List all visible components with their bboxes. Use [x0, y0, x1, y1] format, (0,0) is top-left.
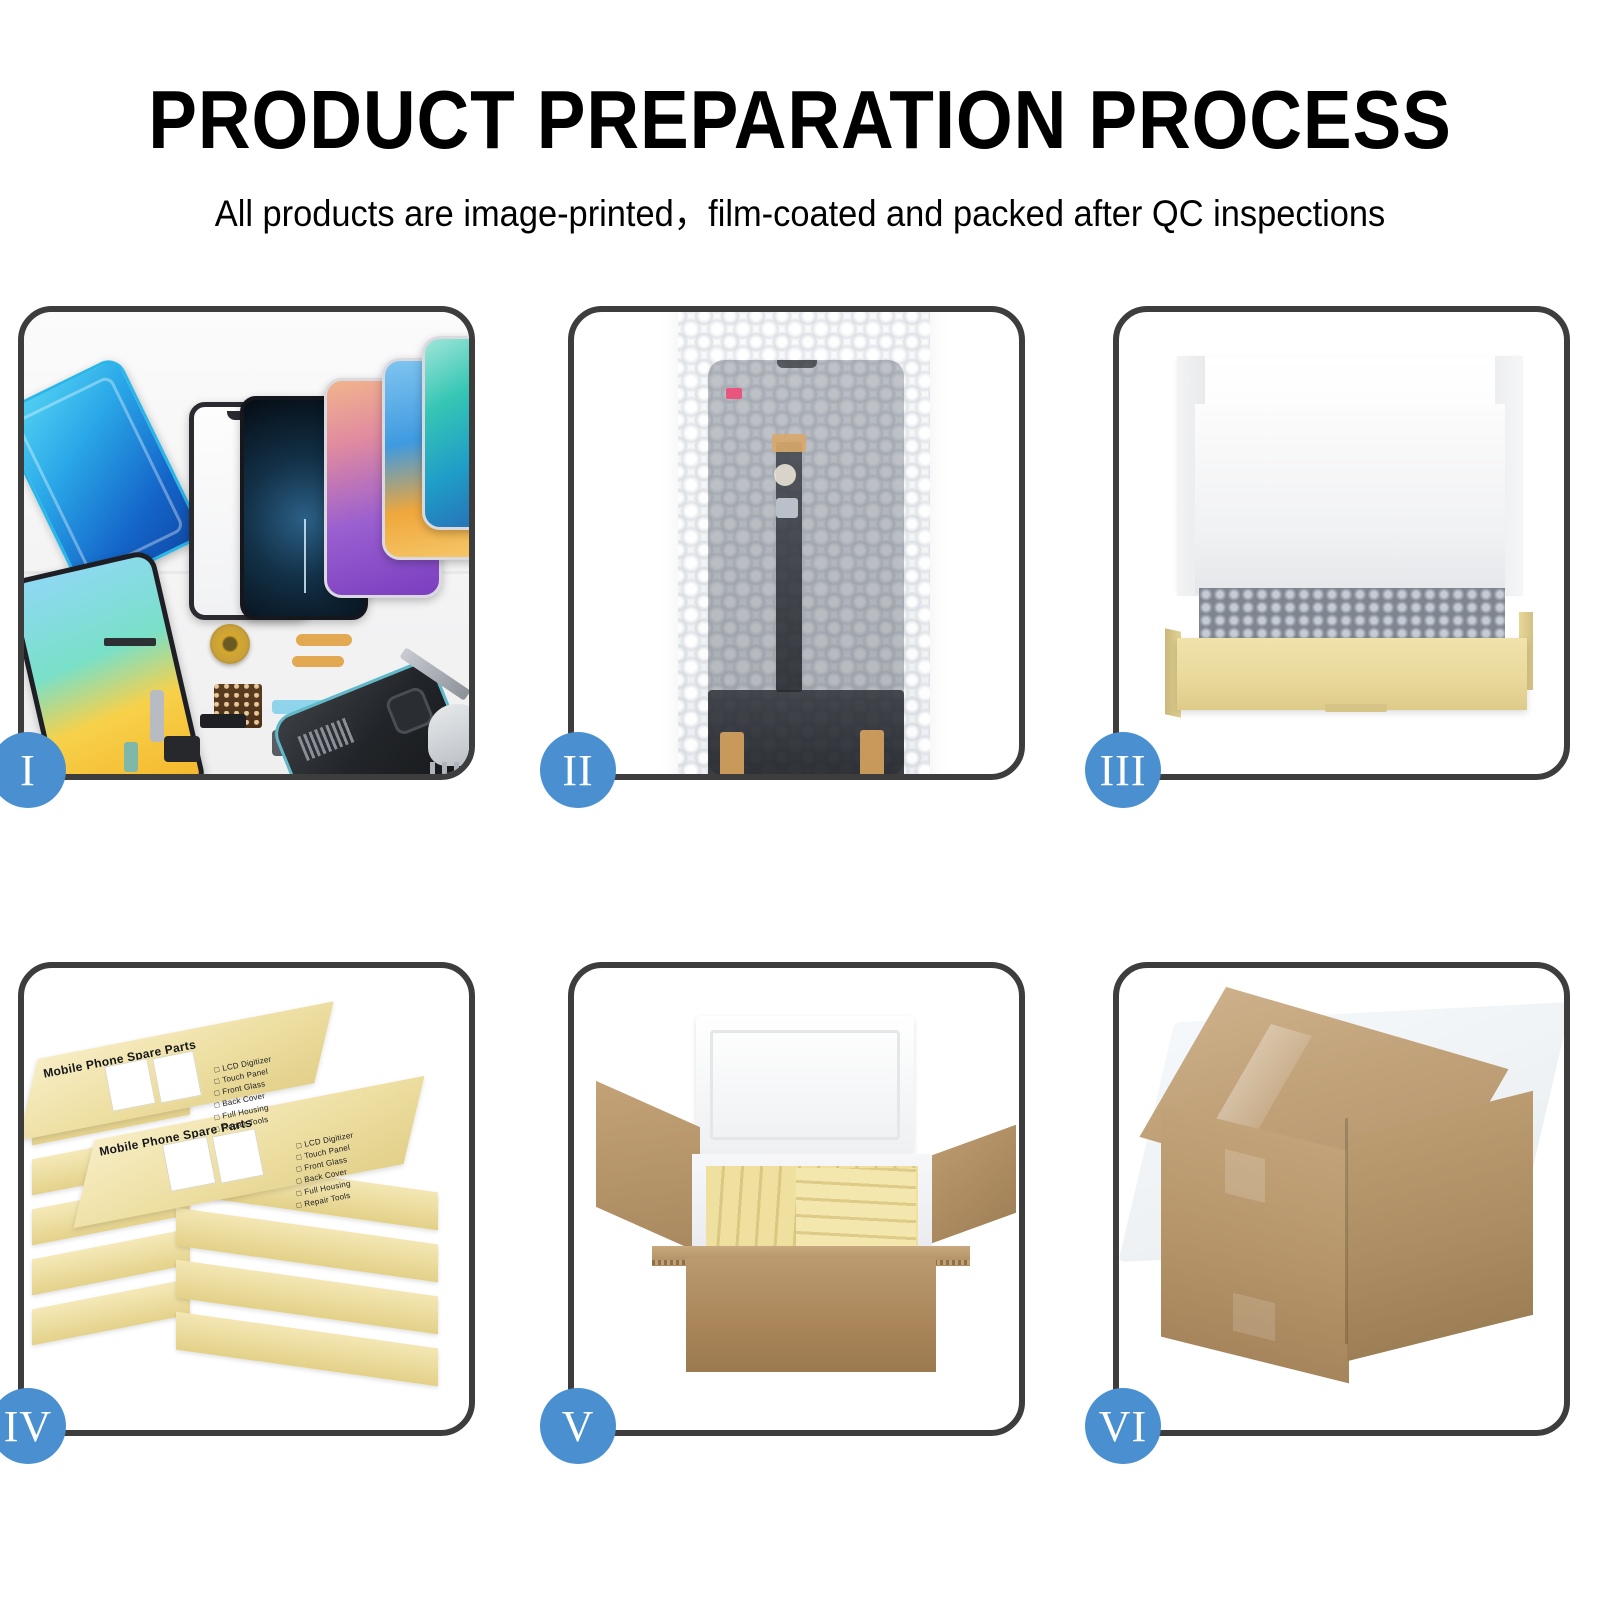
- foam-sheet-icon: [1195, 404, 1505, 594]
- foam-lid-icon: [696, 1016, 914, 1154]
- infographic-page: PRODUCT PREPARATION PROCESS All products…: [0, 0, 1600, 1600]
- phone-teal-icon: [422, 336, 469, 530]
- wireless-charging-coil-icon: [210, 624, 250, 664]
- page-subtitle: All products are image-printed，film-coat…: [56, 195, 1544, 232]
- process-step-6: VI: [1113, 962, 1570, 1436]
- screws-icon: [426, 762, 466, 774]
- step-2-image: [574, 312, 1019, 774]
- glove-icon: [428, 704, 469, 766]
- carton-flap-icon: [596, 1081, 700, 1253]
- header: PRODUCT PREPARATION PROCESS All products…: [0, 0, 1600, 232]
- step-badge-2: II: [540, 732, 616, 808]
- flex-cable-icon: [150, 690, 164, 742]
- process-step-4: Mobile Phone Spare Parts Mobile Phone Sp…: [18, 962, 475, 1436]
- taptic-engine-icon: [200, 714, 246, 728]
- step-1-image: [24, 312, 469, 774]
- process-step-3: III: [1113, 306, 1570, 780]
- process-step-5: V: [568, 962, 1025, 1436]
- yellow-box-icon: [1177, 638, 1527, 710]
- step-6-image: [1119, 968, 1564, 1430]
- step-badge-3: III: [1085, 732, 1161, 808]
- flex-cable-icon: [292, 656, 344, 667]
- process-step-1: I: [18, 306, 475, 780]
- sim-tray-icon: [124, 742, 138, 772]
- carton-icon: [686, 1258, 936, 1372]
- loudspeaker-icon: [164, 736, 200, 762]
- earpiece-mesh-icon: [104, 638, 156, 646]
- step-5-image: [574, 968, 1019, 1430]
- step-badge-6: VI: [1085, 1388, 1161, 1464]
- process-step-grid: I II: [0, 306, 1600, 1436]
- yellow-boxes-icon: [796, 1168, 916, 1248]
- process-step-2: II: [568, 306, 1025, 780]
- step-4-image: Mobile Phone Spare Parts Mobile Phone Sp…: [24, 968, 469, 1430]
- carton-right-face: [1347, 1091, 1533, 1361]
- qc-label-icon: [726, 388, 742, 399]
- carton-left-face: [1161, 1105, 1349, 1384]
- step-3-image: [1119, 312, 1564, 774]
- step-badge-5: V: [540, 1388, 616, 1464]
- page-title: PRODUCT PREPARATION PROCESS: [96, 78, 1504, 161]
- flex-cable-icon: [296, 634, 352, 646]
